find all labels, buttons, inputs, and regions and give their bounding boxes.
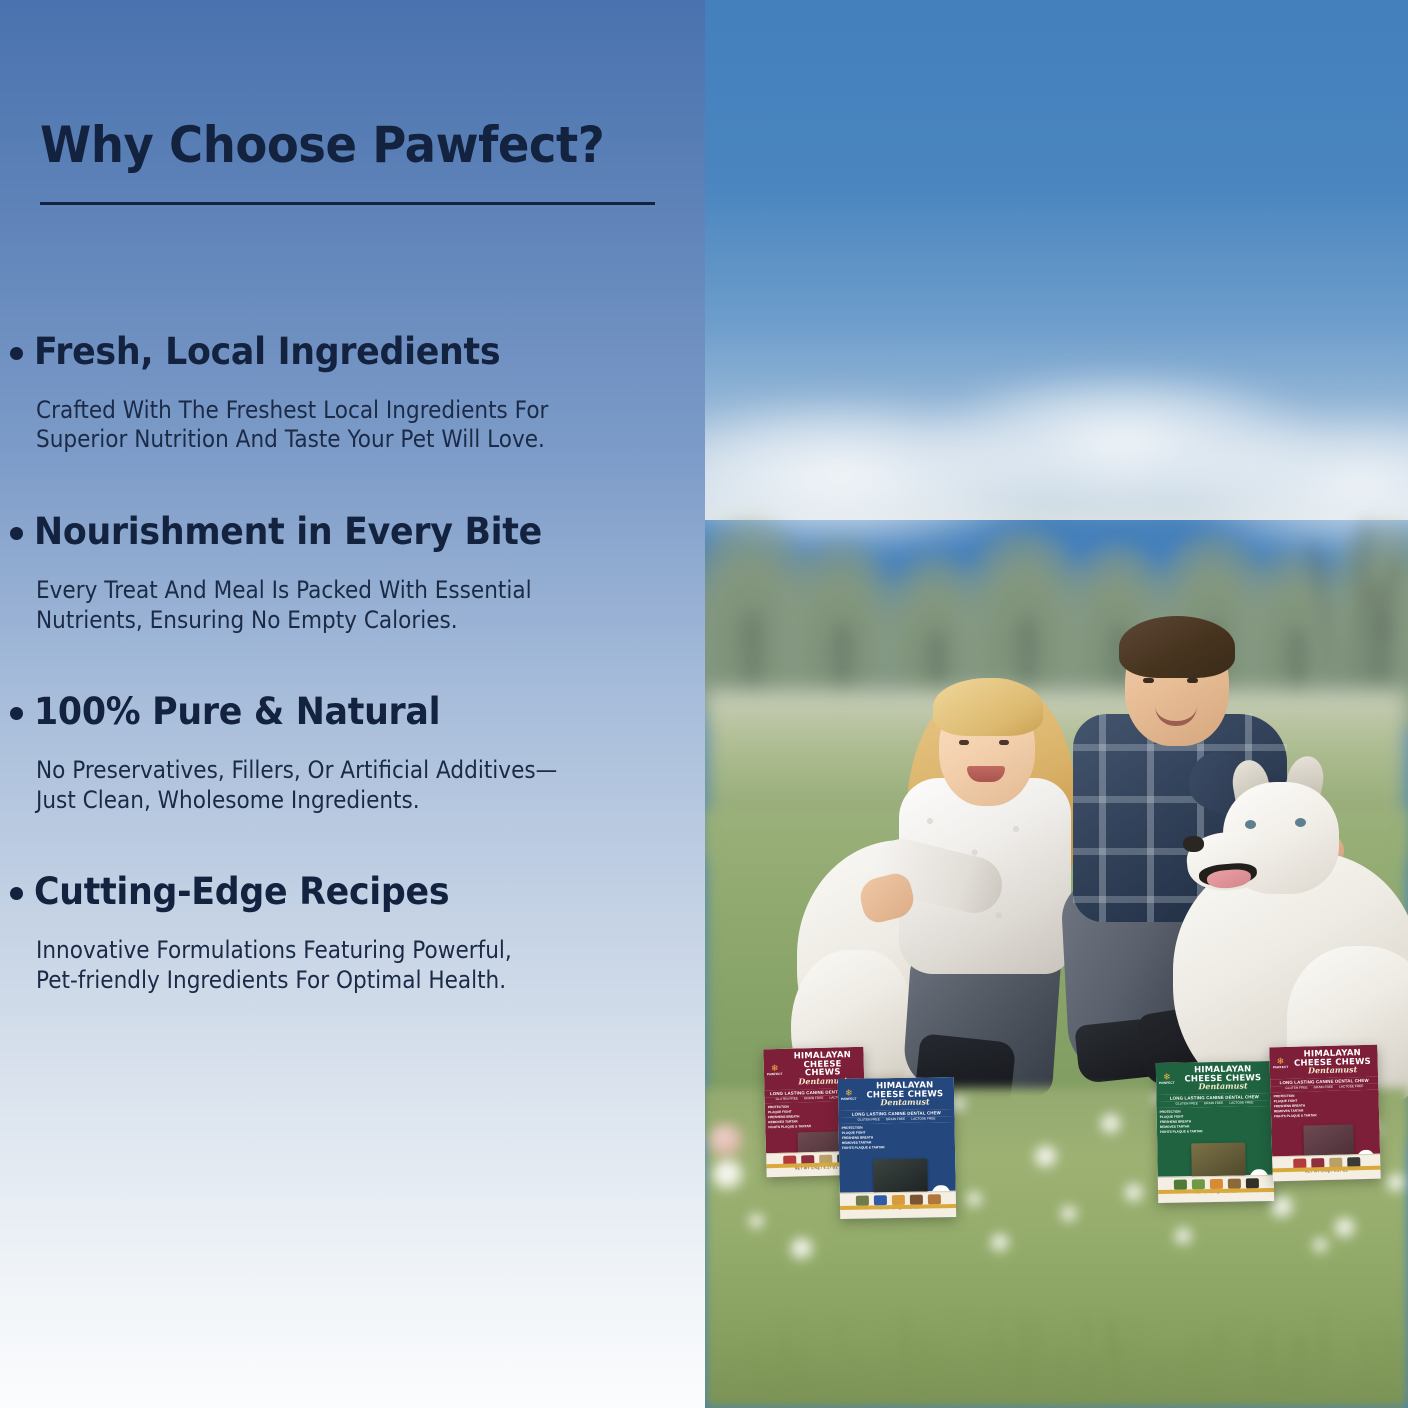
flower-bokeh [967,1192,982,1207]
benefit-body: Every Treat And Meal Is Packed With Esse… [0,576,635,636]
feature-label: GLUTEN FREE [776,1097,798,1102]
pawfect-logo: ❄ PAWFECT [767,1063,783,1075]
grass-blade [1278,1376,1282,1408]
grass-blade [1236,1314,1240,1408]
grass-blade [994,1392,1000,1408]
grass-blade [833,1374,836,1408]
feature-label: LACTOSE FREE [1229,1101,1253,1105]
lifestyle-photo: ❄ PAWFECT HIMALAYAN CHEESE CHEWS Dentamu… [705,0,1408,1408]
grass-blade [1073,1391,1077,1408]
grass-blade [731,1352,737,1408]
flower-bokeh [1335,1218,1355,1238]
ingredient-icon [1173,1180,1186,1190]
woman-eye [999,740,1009,745]
feature-label: GRAIN FREE [804,1096,824,1101]
grass-blade [1173,1351,1180,1408]
page-title: Why Choose Pawfect? [40,119,604,171]
man-eye [1187,678,1198,683]
bullet-icon [10,707,23,720]
pb-footer: NET WT 175g / 6.17 OZ [840,1191,956,1219]
pb-titles: HIMALAYAN CHEESE CHEWS Dentamust [859,1081,950,1107]
benefits-panel: Why Choose Pawfect? Fresh, Local Ingredi… [0,0,705,1408]
ingredient-icon [891,1195,904,1205]
pb-chew-product [1191,1143,1246,1178]
product-box-green[interactable]: ❄ PAWFECT HIMALAYAN CHEESE CHEWS Dentamu… [1156,1061,1274,1203]
pb-bullet: FIGHTS PLAQUE & TARTAR [768,1124,811,1130]
grass-blade [1139,1386,1145,1408]
pb-chew-product [873,1159,928,1194]
dog-eye [1295,818,1306,827]
flower-bokeh [749,1214,764,1229]
woman-eye [959,740,969,745]
flower-bokeh [1061,1206,1077,1222]
grass-blade [1341,1386,1348,1408]
grass-blade [717,1375,722,1408]
grass-blade [745,1390,750,1408]
benefit-item: Cutting-Edge Recipes Innovative Formulat… [0,870,705,995]
woman-hair-top [933,678,1043,736]
pb-bullets: PROTECTION PLAQUE FIGHT FRESHENS BREATH … [1160,1110,1203,1136]
brand-logo-text: PAWFECT [841,1098,857,1101]
benefit-heading: Cutting-Edge Recipes [34,870,449,914]
grass-blade [1257,1385,1261,1408]
ingredient-icon [909,1195,922,1205]
benefit-item: Nourishment in Every Bite Every Treat An… [0,510,705,635]
ingredient-icon [1191,1179,1204,1189]
benefit-heading-row: Nourishment in Every Bite [0,510,705,554]
pb-bullet: FIGHTS PLAQUE & TARTAR [842,1145,885,1151]
pb-bullets: PROTECTION PLAQUE FIGHT FRESHENS BREATH … [842,1126,885,1152]
brand-logo-text: PAWFECT [767,1072,783,1076]
grass-blade [827,1373,830,1408]
pb-header: ❄ PAWFECT HIMALAYAN CHEESE CHEWS Dentamu… [1269,1045,1378,1080]
benefit-heading-row: Cutting-Edge Recipes [0,870,705,914]
flower-bokeh [991,1234,1009,1252]
brand-logo-text: PAWFECT [1273,1066,1289,1070]
pb-chew-product [1303,1125,1354,1158]
pb-bullet: FIGHTS PLAQUE & TARTAR [1274,1114,1317,1120]
pb-titles: HIMALAYAN CHEESE CHEWS Dentamust [1291,1049,1374,1076]
ingredient-icon [1245,1178,1258,1188]
pawfect-logo: ❄ PAWFECT [1159,1073,1175,1085]
grass-blade [897,1379,901,1408]
pb-bullet: FIGHTS PLAQUE & TARTAR [1160,1129,1203,1135]
grass-blade [1018,1317,1021,1408]
benefit-item: 100% Pure & Natural No Preservatives, Fi… [0,690,705,815]
pawfect-logo: ❄ PAWFECT [1273,1057,1289,1069]
pb-footer: NET WT 175g / 6.17 OZ [1158,1175,1274,1203]
benefit-body: Crafted With The Freshest Local Ingredie… [0,396,635,456]
brand-logo-text: PAWFECT [1159,1082,1175,1085]
bullet-icon [10,887,23,900]
flower-bokeh [1271,1196,1293,1218]
flower-bokeh [1035,1146,1057,1168]
ingredient-icon [873,1195,886,1205]
woman-smile [967,766,1005,782]
benefits-list: Fresh, Local Ingredients Crafted With Th… [0,330,705,1051]
man-eye [1143,678,1154,683]
flower-bokeh [791,1238,813,1260]
product-box-maroon-secondary[interactable]: ❄ PAWFECT HIMALAYAN CHEESE CHEWS Dentamu… [1269,1045,1380,1182]
grass-blade [883,1335,890,1408]
benefit-item: Fresh, Local Ingredients Crafted With Th… [0,330,705,455]
flower-bokeh [1125,1184,1143,1202]
ingredient-icon [1209,1179,1222,1189]
benefit-heading: Fresh, Local Ingredients [34,330,500,374]
feature-label: GRAIN FREE [1204,1101,1224,1105]
pb-header: ❄ PAWFECT HIMALAYAN CHEESE CHEWS Dentamu… [1156,1061,1273,1095]
product-box-blue[interactable]: ❄ PAWFECT HIMALAYAN CHEESE CHEWS Dentamu… [838,1077,956,1219]
bullet-icon [10,527,23,540]
man-hair [1119,616,1235,678]
grass-blade [838,1319,842,1408]
grass-blade [725,1332,730,1408]
grass-blade [756,1329,761,1408]
grass-blade [1217,1383,1220,1408]
benefit-heading-row: Fresh, Local Ingredients [0,330,705,374]
pink-flower-bokeh [709,1124,743,1158]
pb-bullets: PROTECTION PLAQUE FIGHT FRESHENS BREATH … [1274,1094,1317,1120]
flower-bokeh [1175,1228,1192,1245]
flower-bokeh [1387,1174,1405,1192]
feature-label: GRAIN FREE [1314,1085,1334,1090]
bullet-icon [10,347,23,360]
feature-label: LACTOSE FREE [911,1117,935,1121]
pawfect-logo: ❄ PAWFECT [841,1089,857,1101]
dog-nose [1183,836,1204,852]
ingredient-icon [1227,1179,1240,1189]
grass-blade [1225,1335,1229,1408]
ingredient-icon [855,1196,868,1206]
benefit-heading: Nourishment in Every Bite [34,510,542,554]
grass-blade [1041,1334,1046,1408]
benefit-body: No Preservatives, Fillers, Or Artificial… [0,756,635,816]
benefit-heading-row: 100% Pure & Natural [0,690,705,734]
pb-header: ❄ PAWFECT HIMALAYAN CHEESE CHEWS Dentamu… [838,1077,955,1111]
flower-bokeh [713,1160,743,1190]
feature-label: LACTOSE FREE [1339,1084,1363,1089]
feature-label: GLUTEN FREE [1285,1086,1307,1091]
feature-label: GLUTEN FREE [1175,1102,1197,1106]
title-underline [40,202,655,205]
feature-label: GLUTEN FREE [857,1118,879,1122]
flower-bokeh [1101,1114,1121,1134]
pb-bullets: PROTECTION PLAQUE FIGHT FRESHENS BREATH … [768,1104,811,1130]
benefit-body: Innovative Formulations Featuring Powerf… [0,936,635,996]
feature-label: GRAIN FREE [886,1117,906,1121]
grass-blade [1181,1383,1185,1408]
pb-footer: NET WT 175g / 6.17 OZ [1272,1154,1381,1182]
infographic-page: Why Choose Pawfect? Fresh, Local Ingredi… [0,0,1408,1408]
dog-eye [1245,820,1256,829]
grass-blade [1145,1395,1149,1408]
benefit-heading: 100% Pure & Natural [34,690,440,734]
ingredient-icon [927,1194,940,1204]
pb-titles: HIMALAYAN CHEESE CHEWS Dentamust [1177,1065,1268,1091]
flower-bokeh [1313,1238,1328,1253]
